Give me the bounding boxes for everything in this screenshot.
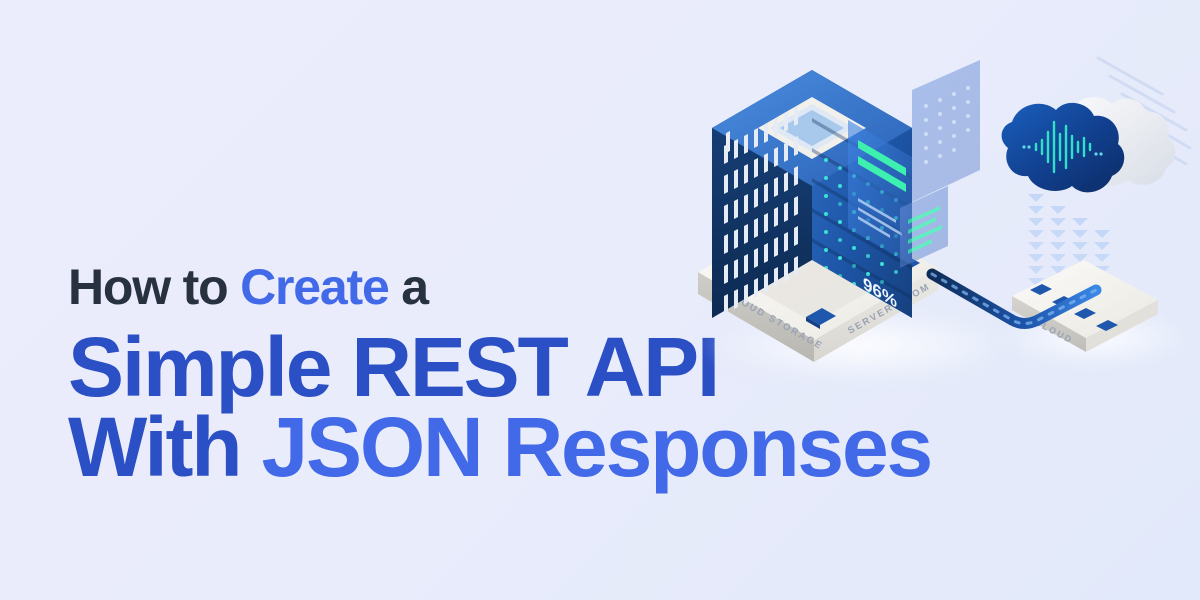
floating-glass-panel-top xyxy=(912,60,980,202)
data-cable xyxy=(920,250,1180,390)
title-line-2: With JSON Responses xyxy=(68,408,1078,486)
kicker-text-1: How to xyxy=(68,259,240,315)
title-line-2-part-2: JSON Responses xyxy=(262,400,931,494)
banner-root: How to Create a Simple REST API With JSO… xyxy=(0,0,1200,600)
kicker-accent-word: Create xyxy=(240,259,388,315)
isometric-illustration: CLOUD STORAGE SERVER ROOM xyxy=(690,10,1200,390)
cable-path xyxy=(932,274,1096,324)
title-line-2-part-1: With xyxy=(68,400,262,494)
kicker-text-3: a xyxy=(389,259,428,315)
